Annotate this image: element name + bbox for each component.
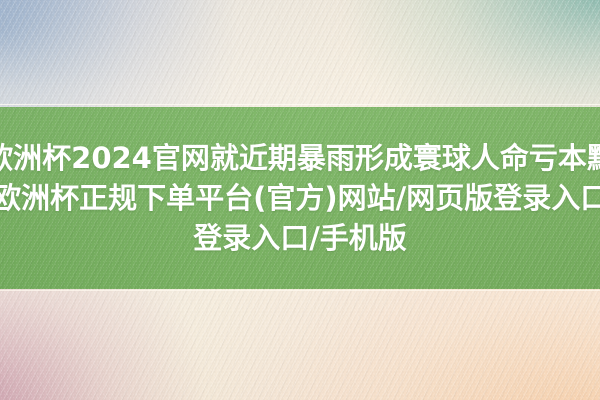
banner-top-rule: [0, 104, 600, 105]
banner-grain: [0, 107, 600, 289]
banner-bottom-rule: [0, 290, 600, 291]
banner-image-canvas: 欧洲杯2024官网就近期暴雨形成寰球人命亏本默 况-欧洲杯正规下单平台(官方)网…: [0, 0, 600, 400]
green-banner-band: [0, 107, 600, 289]
